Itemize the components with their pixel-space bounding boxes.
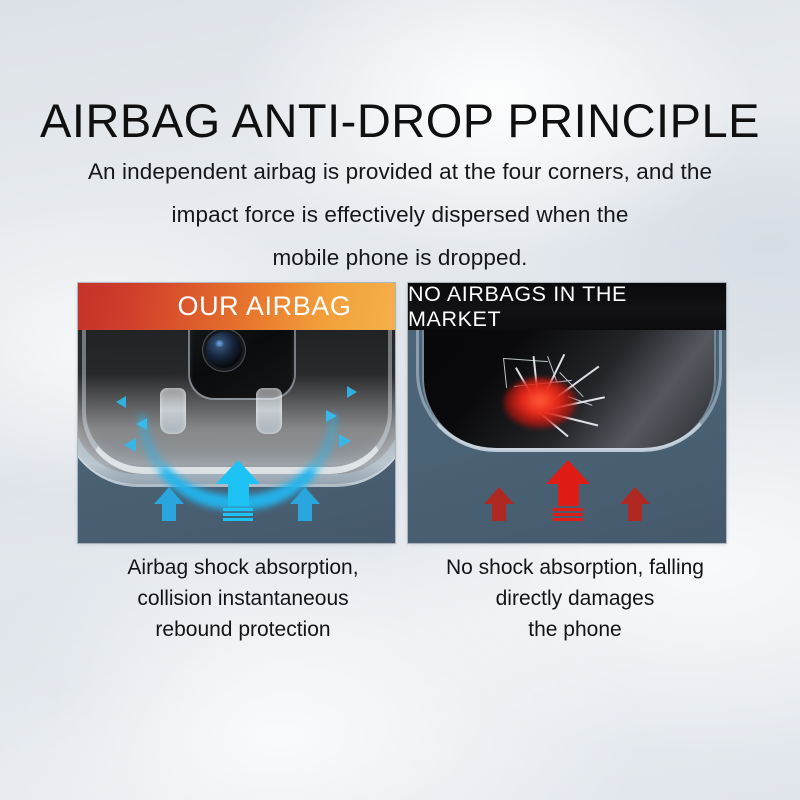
arrow-stem [492,504,506,521]
dispersal-mini-arrow-l1 [116,396,126,408]
caption-line-2: directly damages [405,583,745,614]
arrow-stem [228,484,249,506]
arrow-head [484,487,514,504]
impact-arrow-small-right [290,487,320,521]
camera-lens-icon [206,332,242,368]
page-title: AIRBAG ANTI-DROP PRINCIPLE [0,96,800,146]
caption-line-3: the phone [405,614,745,645]
arrow-stem [298,504,312,521]
caption-line-1: No shock absorption, falling [405,552,745,583]
arrow-head [290,487,320,504]
infographic-canvas: AIRBAG ANTI-DROP PRINCIPLE An independen… [0,0,800,800]
impact-arrow-small-left [484,487,514,521]
dispersal-mini-arrow-r2 [326,410,337,422]
subtitle-line-3: mobile phone is dropped. [0,236,800,279]
panel-image-no-airbag [408,330,726,543]
arrow-stem [558,484,579,506]
subtitle-line-2: impact force is effectively dispersed wh… [0,193,800,236]
arrow-motion-lines [553,508,583,521]
impact-arrow-large-center [216,460,260,521]
arrow-motion-lines [223,508,253,521]
arrow-head [216,460,260,484]
dispersal-mini-arrow-l2 [136,418,147,430]
caption-line-1: Airbag shock absorption, [73,552,413,583]
comparison-panel-our-airbag: OUR AIRBAG [78,283,395,543]
panel-image-our-airbag [78,330,395,543]
arrow-head [546,460,590,484]
camera-module [190,330,294,398]
subtitle-line-1: An independent airbag is provided at the… [0,150,800,193]
arrow-stem [628,504,642,521]
impact-point-glow [504,378,576,428]
impact-arrow-small-left [154,487,184,521]
impact-arrow-small-right [620,487,650,521]
page-subtitle: An independent airbag is provided at the… [0,150,800,279]
caption-no-airbag: No shock absorption, falling directly da… [405,552,745,645]
dispersal-mini-arrow-r1 [347,386,357,398]
impact-arrow-group-blue [78,469,395,535]
impact-arrow-large-center [546,460,590,521]
arrow-stem [162,504,176,521]
arrow-head [154,487,184,504]
panel-header-our-airbag: OUR AIRBAG [78,283,395,330]
caption-line-3: rebound protection [73,614,413,645]
dispersal-mini-arrow-l3 [124,438,136,452]
dispersal-mini-arrow-r3 [339,434,351,448]
caption-line-2: collision instantaneous [73,583,413,614]
caption-our-airbag: Airbag shock absorption, collision insta… [73,552,413,645]
impact-arrow-group-red [408,469,726,535]
arrow-head [620,487,650,504]
panel-header-no-airbags: NO AIRBAGS IN THE MARKET [408,283,726,330]
comparison-panel-no-airbag: NO AIRBAGS IN THE MARKET [408,283,726,543]
